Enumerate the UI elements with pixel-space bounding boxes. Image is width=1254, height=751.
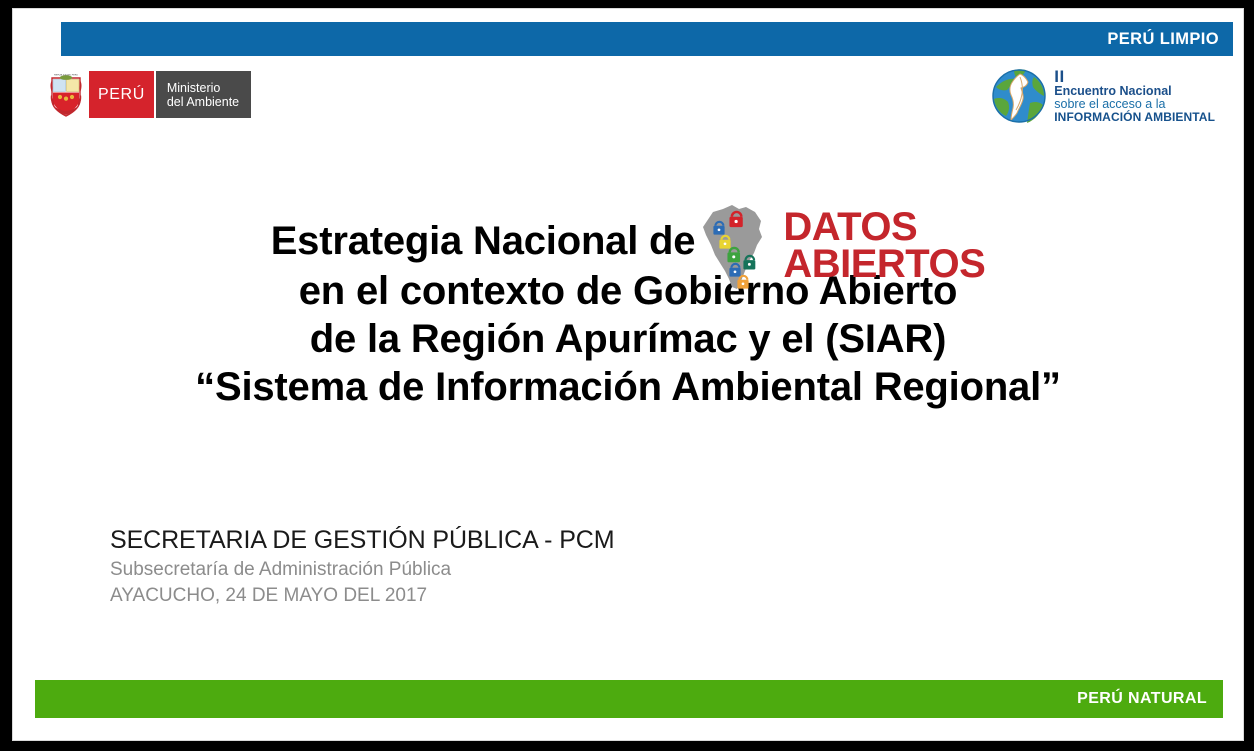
title-line-1: Estrategia Nacional de [13, 215, 1243, 267]
ministry-name-line1: Ministerio [167, 81, 239, 95]
peru-map-locks-icon [699, 199, 777, 294]
top-banner: PERÚ LIMPIO [61, 22, 1233, 56]
datos-abiertos-logo: DATOS ABIERTOS [699, 199, 985, 294]
ministry-name-line2: del Ambiente [167, 95, 239, 109]
event-name-line2: sobre el acceso a la [1054, 98, 1215, 111]
title-line-4: “Sistema de Información Ambiental Region… [13, 363, 1243, 411]
presentation-slide: PERÚ LIMPIO [12, 8, 1244, 741]
ministry-logo: REPUBLICA DEL PERU PERÚ Ministerio del A… [43, 71, 251, 118]
title-line-3: de la Región Apurímac y el (SIAR) [13, 315, 1243, 363]
bottom-banner: PERÚ NATURAL [35, 680, 1223, 718]
peru-coat-of-arms-icon: REPUBLICA DEL PERU [43, 71, 89, 118]
slide-outer-frame: PERÚ LIMPIO [0, 0, 1254, 751]
datos-abiertos-wordmark: DATOS ABIERTOS [783, 209, 985, 283]
presenter-info: SECRETARIA DE GESTIÓN PÚBLICA - PCM Subs… [110, 525, 614, 609]
peru-wordmark: PERÚ [89, 71, 154, 118]
event-name-line1: Encuentro Nacional [1054, 85, 1215, 98]
globe-icon [990, 67, 1048, 125]
title-line-1-text: Estrategia Nacional de [271, 217, 700, 265]
svg-text:REPUBLICA DEL PERU: REPUBLICA DEL PERU [54, 73, 78, 76]
page-title: Estrategia Nacional de [13, 215, 1243, 411]
ministry-name: Ministerio del Ambiente [154, 71, 251, 118]
top-banner-label: PERÚ LIMPIO [1107, 30, 1233, 49]
event-edition-number: II [1054, 69, 1215, 84]
event-name-line3: INFORMACIÓN AMBIENTAL [1054, 111, 1215, 124]
presenter-organization: SECRETARIA DE GESTIÓN PÚBLICA - PCM [110, 525, 614, 556]
event-logo: II Encuentro Nacional sobre el acceso a … [990, 67, 1215, 125]
peru-wordmark-text: PERÚ [98, 86, 145, 104]
bottom-banner-label: PERÚ NATURAL [1077, 690, 1223, 708]
title-line-2: en el contexto de Gobierno Abierto [13, 267, 1243, 315]
presenter-department: Subsecretaría de Administración Pública [110, 556, 614, 583]
datos-word: DATOS [783, 209, 985, 246]
presentation-date-location: AYACUCHO, 24 DE MAYO DEL 2017 [110, 583, 614, 609]
event-logo-text: II Encuentro Nacional sobre el acceso a … [1054, 69, 1215, 124]
abiertos-word: ABIERTOS [783, 246, 985, 283]
